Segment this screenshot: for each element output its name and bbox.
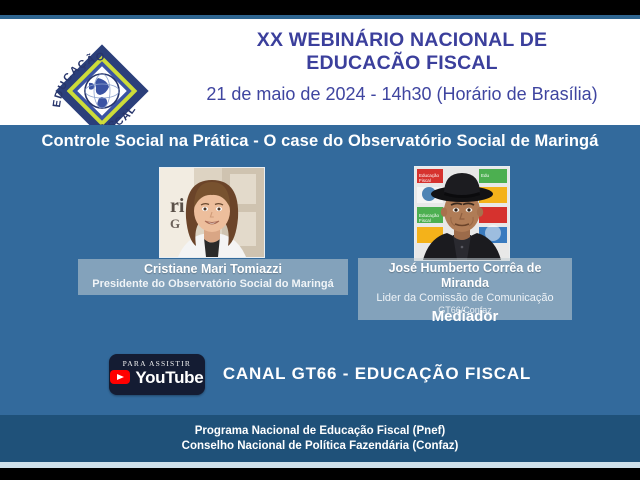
youtube-badge[interactable]: PARA ASSISTIR YouTube — [109, 354, 205, 395]
youtube-logo: YouTube — [109, 369, 205, 386]
header-band: EDUCAÇÃO FISCAL XX WEBINÁRIO NACIONAL DE… — [0, 19, 640, 125]
session-subtitle-bar: Controle Social na Prática - O case do O… — [0, 125, 640, 157]
mediator-badge: Mediador — [358, 308, 572, 325]
svg-text:ri: ri — [170, 195, 185, 217]
letterbox-bottom — [0, 468, 640, 480]
youtube-wordmark: YouTube — [135, 369, 203, 386]
svg-text:Edu: Edu — [481, 173, 490, 178]
speaker-name-right: José Humberto Corrêa de Miranda — [364, 261, 566, 291]
session-subtitle: Controle Social na Prática - O case do O… — [41, 132, 598, 151]
speaker-photo-left: ri G — [159, 167, 265, 258]
svg-text:Fiscal: Fiscal — [419, 178, 431, 183]
header-title-block: XX WEBINÁRIO NACIONAL DE EDUCACÃO FISCAL… — [176, 29, 628, 105]
title-line-2: EDUCACÃO FISCAL — [176, 52, 628, 75]
footer-band: Programa Nacional de Educação Fiscal (Pn… — [0, 415, 640, 462]
speaker-nameplate-left: Cristiane Mari Tomiazzi Presidente do Ob… — [78, 259, 348, 295]
letterbox-top — [0, 0, 640, 15]
footer-line-1: Programa Nacional de Educação Fiscal (Pn… — [195, 424, 446, 439]
watch-prompt-label: PARA ASSISTIR — [109, 359, 205, 368]
youtube-play-icon — [110, 370, 130, 384]
footer-line-2: Conselho Nacional de Política Fazendária… — [182, 439, 459, 454]
event-date-time: 21 de maio de 2024 - 14h30 (Horário de B… — [176, 84, 628, 105]
speaker-role-left: Presidente do Observatório Social do Mar… — [84, 277, 342, 291]
speaker-role-right: Lider da Comissão de Comunicação — [364, 291, 566, 305]
speaker-photo-right: Educação Fiscal Edu Educação Fiscal — [414, 166, 510, 261]
speaker-name-left: Cristiane Mari Tomiazzi — [84, 262, 342, 277]
title-line-1: XX WEBINÁRIO NACIONAL DE — [176, 29, 628, 52]
channel-name: CANAL GT66 - EDUCAÇÃO FISCAL — [223, 364, 531, 384]
watch-row: PARA ASSISTIR YouTube CANAL GT66 - EDUCA… — [0, 352, 640, 396]
svg-text:G: G — [170, 216, 180, 231]
webinar-banner-slide: EDUCAÇÃO FISCAL XX WEBINÁRIO NACIONAL DE… — [0, 0, 640, 480]
svg-text:Fiscal: Fiscal — [419, 218, 431, 223]
